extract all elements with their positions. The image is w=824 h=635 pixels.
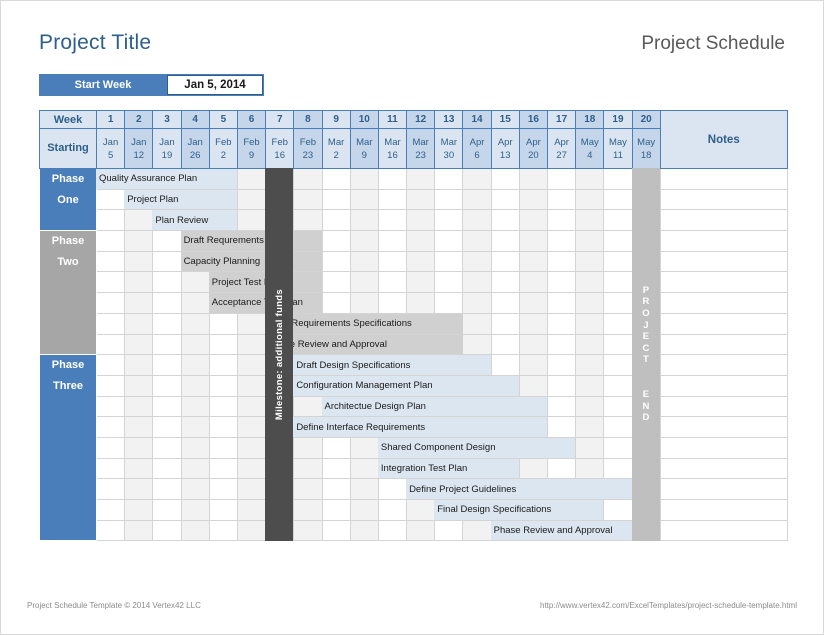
grid-cell[interactable] (548, 417, 576, 438)
grid-cell[interactable] (604, 417, 632, 438)
grid-cell[interactable] (237, 520, 265, 541)
grid-cell[interactable] (125, 437, 153, 458)
grid-cell[interactable] (576, 396, 604, 417)
week-start-date-6: Feb9 (237, 129, 265, 169)
grid-cell[interactable] (378, 251, 406, 272)
grid-cell[interactable] (378, 293, 406, 314)
grid-cell[interactable] (407, 189, 435, 210)
notes-cell[interactable] (660, 355, 787, 376)
grid-cell[interactable] (491, 334, 519, 355)
grid-cell[interactable] (153, 520, 181, 541)
grid-cell[interactable] (576, 417, 604, 438)
grid-cell[interactable] (463, 520, 491, 541)
grid-cell[interactable] (209, 396, 237, 417)
grid-cell[interactable] (322, 479, 350, 500)
notes-cell[interactable] (660, 417, 787, 438)
grid-cell[interactable] (125, 313, 153, 334)
grid-cell[interactable]: Draft Design Specifications (294, 355, 322, 376)
grid-cell[interactable] (237, 210, 265, 231)
grid-cell[interactable] (576, 251, 604, 272)
grid-cell[interactable] (378, 520, 406, 541)
grid-cell[interactable] (576, 437, 604, 458)
week-start-date-5: Feb2 (209, 129, 237, 169)
grid-cell[interactable]: Define Project Guidelines (407, 479, 435, 500)
grid-cell[interactable] (604, 231, 632, 252)
grid-cell[interactable] (97, 272, 125, 293)
grid-cell[interactable] (407, 210, 435, 231)
grid-cell[interactable] (576, 375, 604, 396)
table-row: PhaseThreeDraft Design Specifications (40, 355, 788, 376)
task-bar[interactable]: Architectue Design Plan (322, 397, 548, 417)
grid-cell[interactable] (407, 251, 435, 272)
grid-cell[interactable] (322, 272, 350, 293)
grid-cell[interactable] (491, 272, 519, 293)
grid-cell[interactable] (548, 355, 576, 376)
grid-cell[interactable] (181, 355, 209, 376)
grid-cell[interactable] (153, 500, 181, 521)
grid-cell[interactable] (548, 293, 576, 314)
task-bar[interactable]: Capacity Planning (181, 252, 322, 272)
grid-cell[interactable] (576, 210, 604, 231)
milestone-marker: Milestone: additional funds (265, 168, 293, 541)
grid-cell[interactable] (209, 313, 237, 334)
table-row: Define Project Guidelines (40, 479, 788, 500)
grid-cell[interactable] (350, 479, 378, 500)
grid-cell[interactable]: Draft Requrements (181, 231, 209, 252)
notes-cell[interactable] (660, 334, 787, 355)
week-start-date-18: May4 (576, 129, 604, 169)
grid-cell[interactable] (604, 396, 632, 417)
grid-cell[interactable] (407, 520, 435, 541)
grid-cell[interactable] (548, 458, 576, 479)
grid-cell[interactable] (237, 189, 265, 210)
grid-cell[interactable] (97, 293, 125, 314)
grid-cell[interactable] (97, 500, 125, 521)
grid-cell[interactable] (181, 313, 209, 334)
grid-cell[interactable] (153, 437, 181, 458)
notes-cell[interactable] (660, 500, 787, 521)
grid-cell[interactable] (153, 231, 181, 252)
grid-cell[interactable] (435, 210, 463, 231)
grid-cell[interactable]: Configuration Management Plan (294, 375, 322, 396)
grid-cell[interactable]: Quality Assurance Plan (97, 169, 125, 190)
notes-cell[interactable] (660, 375, 787, 396)
grid-cell[interactable] (378, 479, 406, 500)
grid-cell[interactable] (237, 396, 265, 417)
notes-cell[interactable] (660, 189, 787, 210)
grid-cell[interactable] (576, 272, 604, 293)
grid-cell[interactable] (294, 169, 322, 190)
grid-cell[interactable] (125, 479, 153, 500)
grid-cell[interactable] (322, 458, 350, 479)
grid-cell[interactable] (97, 355, 125, 376)
grid-cell[interactable] (97, 375, 125, 396)
notes-cell[interactable] (660, 520, 787, 541)
grid-cell[interactable] (237, 355, 265, 376)
grid-cell[interactable] (435, 293, 463, 314)
grid-cell[interactable] (294, 189, 322, 210)
grid-cell[interactable] (604, 313, 632, 334)
grid-cell[interactable]: Acceptance Test Plan (209, 293, 237, 314)
grid-cell[interactable] (209, 479, 237, 500)
grid-cell[interactable] (519, 210, 547, 231)
grid-cell[interactable]: Shared Component Design (378, 437, 406, 458)
grid-cell[interactable] (237, 417, 265, 438)
grid-cell[interactable] (435, 251, 463, 272)
table-row: Phase Review and Approval (40, 334, 788, 355)
grid-cell[interactable] (463, 334, 491, 355)
table-row: Final Design Specifications (40, 500, 788, 521)
week-number-13: 13 (435, 111, 463, 129)
grid-cell[interactable] (350, 293, 378, 314)
grid-cell[interactable] (97, 479, 125, 500)
grid-cell[interactable] (519, 313, 547, 334)
grid-cell[interactable] (322, 189, 350, 210)
grid-cell[interactable] (407, 272, 435, 293)
grid-cell[interactable] (153, 293, 181, 314)
grid-cell[interactable] (322, 500, 350, 521)
grid-cell[interactable] (350, 231, 378, 252)
grid-cell[interactable] (237, 437, 265, 458)
grid-cell[interactable] (125, 293, 153, 314)
grid-cell[interactable] (294, 210, 322, 231)
grid-cell[interactable] (491, 293, 519, 314)
grid-cell[interactable] (548, 334, 576, 355)
grid-cell[interactable] (350, 169, 378, 190)
grid-cell[interactable] (519, 189, 547, 210)
grid-cell[interactable] (153, 417, 181, 438)
grid-cell[interactable] (181, 458, 209, 479)
grid-cell[interactable] (548, 375, 576, 396)
grid-cell[interactable] (491, 251, 519, 272)
grid-cell[interactable] (350, 210, 378, 231)
task-bar[interactable]: Integration Test Plan (378, 459, 519, 479)
grid-cell[interactable] (378, 500, 406, 521)
grid-cell[interactable] (97, 189, 125, 210)
grid-cell[interactable] (153, 458, 181, 479)
grid-cell[interactable] (350, 272, 378, 293)
grid-cell[interactable] (294, 520, 322, 541)
grid-cell[interactable] (378, 272, 406, 293)
table-row: Plan Review (40, 210, 788, 231)
notes-cell[interactable] (660, 313, 787, 334)
grid-cell[interactable] (463, 189, 491, 210)
week-number-7: 7 (266, 111, 294, 129)
grid-cell[interactable] (548, 251, 576, 272)
grid-cell[interactable] (97, 231, 125, 252)
grid-cell[interactable] (491, 169, 519, 190)
footer-url[interactable]: http://www.vertex42.com/ExcelTemplates/p… (540, 601, 797, 610)
grid-cell[interactable] (181, 272, 209, 293)
grid-cell[interactable] (237, 313, 265, 334)
task-bar[interactable]: Define Project Guidelines (406, 479, 632, 499)
grid-cell[interactable] (153, 334, 181, 355)
grid-cell[interactable] (350, 500, 378, 521)
grid-cell[interactable] (322, 210, 350, 231)
week-number-6: 6 (237, 111, 265, 129)
grid-cell[interactable] (407, 500, 435, 521)
grid-cell[interactable] (548, 210, 576, 231)
grid-cell[interactable]: Phase Review and Approval (491, 520, 519, 541)
grid-cell[interactable] (181, 479, 209, 500)
grid-cell[interactable] (435, 272, 463, 293)
task-bar[interactable]: Draft Requrements (181, 231, 322, 251)
grid-cell[interactable] (604, 169, 632, 190)
start-week-input[interactable]: Jan 5, 2014 (167, 75, 263, 95)
grid-cell[interactable] (576, 458, 604, 479)
task-bar[interactable]: Shared Component Design (378, 438, 575, 458)
grid-cell[interactable]: Project Plan (125, 189, 153, 210)
grid-cell[interactable] (97, 334, 125, 355)
grid-cell[interactable] (350, 189, 378, 210)
grid-cell[interactable] (181, 375, 209, 396)
grid-cell[interactable] (604, 375, 632, 396)
grid-cell[interactable] (548, 189, 576, 210)
grid-cell[interactable] (237, 375, 265, 396)
grid-cell[interactable] (604, 189, 632, 210)
document-type-title: Project Schedule (641, 33, 785, 55)
grid-cell[interactable] (322, 251, 350, 272)
notes-cell[interactable] (660, 458, 787, 479)
grid-cell[interactable] (125, 355, 153, 376)
grid-cell[interactable] (407, 169, 435, 190)
task-bar[interactable]: Define Interface Requirements (293, 417, 547, 437)
grid-cell[interactable] (209, 437, 237, 458)
task-bar[interactable]: Final Design Specifications (434, 500, 603, 520)
grid-cell[interactable] (604, 355, 632, 376)
grid-cell[interactable] (491, 231, 519, 252)
grid-cell[interactable] (97, 396, 125, 417)
grid-cell[interactable] (97, 313, 125, 334)
grid-cell[interactable] (576, 231, 604, 252)
notes-cell[interactable] (660, 293, 787, 314)
week-start-date-16: Apr20 (519, 129, 547, 169)
grid-cell[interactable] (294, 500, 322, 521)
week-number-4: 4 (181, 111, 209, 129)
grid-cell[interactable] (209, 375, 237, 396)
task-bar[interactable]: Phase Review and Approval (265, 335, 462, 355)
grid-cell[interactable]: Project Test Plan (209, 272, 237, 293)
grid-cell[interactable] (576, 313, 604, 334)
grid-cell[interactable] (294, 437, 322, 458)
grid-cell[interactable] (153, 479, 181, 500)
grid-cell[interactable] (407, 293, 435, 314)
grid-cell[interactable] (463, 231, 491, 252)
grid-cell[interactable] (181, 293, 209, 314)
grid-cell[interactable] (576, 334, 604, 355)
grid-cell[interactable] (519, 251, 547, 272)
grid-cell[interactable] (519, 169, 547, 190)
grid-cell[interactable] (209, 334, 237, 355)
grid-cell[interactable] (519, 355, 547, 376)
grid-cell[interactable] (125, 500, 153, 521)
grid-cell[interactable] (209, 417, 237, 438)
grid-cell[interactable] (125, 251, 153, 272)
grid-cell[interactable] (350, 437, 378, 458)
grid-cell[interactable] (181, 334, 209, 355)
grid-cell[interactable] (463, 251, 491, 272)
grid-cell[interactable] (604, 251, 632, 272)
task-bar[interactable]: Configuration Management Plan (293, 376, 519, 396)
grid-cell[interactable] (237, 479, 265, 500)
grid-cell[interactable] (209, 500, 237, 521)
grid-cell[interactable] (97, 520, 125, 541)
grid-cell[interactable] (491, 189, 519, 210)
grid-cell[interactable] (463, 313, 491, 334)
grid-cell[interactable] (125, 334, 153, 355)
grid-cell[interactable] (125, 375, 153, 396)
grid-cell[interactable] (435, 520, 463, 541)
grid-cell[interactable] (519, 334, 547, 355)
grid-cell[interactable] (519, 293, 547, 314)
grid-cell[interactable] (322, 231, 350, 252)
grid-cell[interactable] (604, 437, 632, 458)
grid-cell[interactable] (322, 520, 350, 541)
task-bar[interactable]: Project Plan (124, 190, 237, 210)
task-bar[interactable]: Quality Assurance Plan (96, 169, 237, 189)
grid-cell[interactable] (491, 355, 519, 376)
grid-cell[interactable] (322, 169, 350, 190)
week-start-date-3: Jan19 (153, 129, 181, 169)
task-bar[interactable]: Final Requirements Specifications (265, 314, 462, 334)
gantt-grid-head: Week1234567891011121314151617181920Notes… (40, 111, 788, 169)
table-row: Project Test Plan (40, 272, 788, 293)
grid-cell[interactable] (209, 355, 237, 376)
grid-cell[interactable] (125, 231, 153, 252)
grid-cell[interactable] (237, 334, 265, 355)
grid-cell[interactable]: Architectue Design Plan (322, 396, 350, 417)
grid-cell[interactable] (125, 520, 153, 541)
grid-cell[interactable] (519, 375, 547, 396)
notes-cell[interactable] (660, 231, 787, 252)
grid-cell[interactable] (491, 210, 519, 231)
notes-cell[interactable] (660, 396, 787, 417)
grid-cell[interactable] (125, 458, 153, 479)
grid-cell[interactable] (181, 396, 209, 417)
grid-cell[interactable] (97, 417, 125, 438)
grid-cell[interactable] (407, 231, 435, 252)
grid-cell[interactable] (519, 272, 547, 293)
notes-cell[interactable] (660, 272, 787, 293)
grid-cell[interactable] (294, 479, 322, 500)
grid-cell[interactable] (181, 437, 209, 458)
grid-cell[interactable] (576, 169, 604, 190)
task-bar[interactable]: Draft Design Specifications (293, 355, 490, 375)
grid-cell[interactable]: Plan Review (153, 210, 181, 231)
grid-cell[interactable] (604, 210, 632, 231)
starting-header-label: Starting (40, 129, 97, 169)
grid-cell[interactable] (548, 396, 576, 417)
grid-cell[interactable] (378, 231, 406, 252)
grid-cell[interactable] (576, 355, 604, 376)
grid-cell[interactable]: Define Interface Requirements (294, 417, 322, 438)
grid-cell[interactable] (294, 458, 322, 479)
grid-cell[interactable] (463, 272, 491, 293)
grid-cell[interactable] (125, 396, 153, 417)
week-number-11: 11 (378, 111, 406, 129)
grid-cell[interactable]: Capacity Planning (181, 251, 209, 272)
grid-cell[interactable] (604, 293, 632, 314)
grid-cell[interactable] (519, 458, 547, 479)
grid-cell[interactable] (350, 520, 378, 541)
grid-cell[interactable] (548, 313, 576, 334)
grid-cell[interactable] (153, 272, 181, 293)
grid-cell[interactable] (153, 375, 181, 396)
grid-cell[interactable] (350, 251, 378, 272)
grid-cell[interactable] (350, 458, 378, 479)
task-bar[interactable]: Plan Review (152, 210, 237, 230)
grid-cell[interactable] (97, 437, 125, 458)
grid-cell[interactable]: Integration Test Plan (378, 458, 406, 479)
grid-cell[interactable] (294, 396, 322, 417)
grid-cell[interactable] (322, 293, 350, 314)
task-bar[interactable]: Phase Review and Approval (491, 521, 632, 541)
grid-cell[interactable] (209, 520, 237, 541)
grid-cell[interactable] (97, 210, 125, 231)
notes-cell[interactable] (660, 210, 787, 231)
notes-cell[interactable] (660, 169, 787, 190)
grid-cell[interactable] (125, 210, 153, 231)
start-week-control[interactable]: Start Week Jan 5, 2014 (39, 74, 264, 96)
grid-cell[interactable] (181, 417, 209, 438)
grid-cell[interactable] (153, 396, 181, 417)
table-row: PhaseTwoDraft Requrements (40, 231, 788, 252)
grid-cell[interactable] (576, 293, 604, 314)
grid-cell[interactable] (378, 189, 406, 210)
grid-cell[interactable] (604, 334, 632, 355)
grid-cell[interactable] (181, 520, 209, 541)
grid-cell[interactable] (237, 169, 265, 190)
grid-cell[interactable] (125, 417, 153, 438)
grid-cell[interactable] (153, 251, 181, 272)
grid-cell[interactable] (576, 189, 604, 210)
grid-cell[interactable] (435, 189, 463, 210)
grid-cell[interactable] (604, 272, 632, 293)
grid-cell[interactable] (463, 210, 491, 231)
notes-cell[interactable] (660, 437, 787, 458)
grid-cell[interactable] (548, 169, 576, 190)
grid-cell[interactable] (519, 231, 547, 252)
grid-cell[interactable] (435, 231, 463, 252)
grid-cell[interactable] (322, 437, 350, 458)
grid-cell[interactable] (97, 251, 125, 272)
grid-cell[interactable] (153, 355, 181, 376)
grid-cell[interactable] (463, 293, 491, 314)
grid-cell[interactable] (604, 458, 632, 479)
grid-cell[interactable] (153, 313, 181, 334)
grid-cell[interactable] (378, 210, 406, 231)
grid-cell[interactable] (378, 169, 406, 190)
grid-cell[interactable]: Final Design Specifications (435, 500, 463, 521)
week-number-2: 2 (125, 111, 153, 129)
grid-cell[interactable] (548, 231, 576, 252)
grid-cell[interactable] (463, 169, 491, 190)
week-number-12: 12 (407, 111, 435, 129)
grid-cell[interactable] (435, 169, 463, 190)
grid-cell[interactable] (237, 500, 265, 521)
grid-cell[interactable] (97, 458, 125, 479)
grid-cell[interactable] (491, 313, 519, 334)
notes-cell[interactable] (660, 251, 787, 272)
grid-cell[interactable] (604, 500, 632, 521)
grid-cell[interactable] (548, 272, 576, 293)
grid-cell[interactable] (237, 458, 265, 479)
week-start-date-9: Mar2 (322, 129, 350, 169)
grid-cell[interactable] (181, 500, 209, 521)
grid-cell[interactable] (125, 272, 153, 293)
notes-cell[interactable] (660, 479, 787, 500)
grid-cell[interactable] (209, 458, 237, 479)
